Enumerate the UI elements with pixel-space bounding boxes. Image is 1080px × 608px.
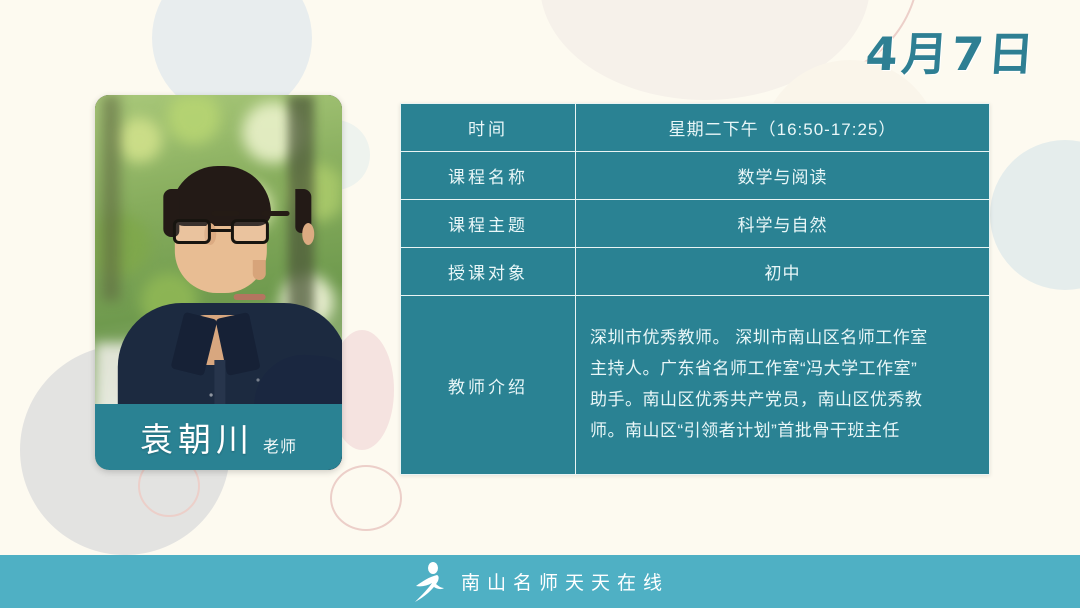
row-value-course-topic: 科学与自然 bbox=[576, 200, 990, 248]
table-row: 时间 星期二下午（16:50-17:25） bbox=[401, 104, 990, 152]
course-info-table: 时间 星期二下午（16:50-17:25） 课程名称 数学与阅读 课程主题 科学… bbox=[400, 103, 990, 475]
bio-line: 深圳市优秀教师。 深圳市南山区名师工作室 bbox=[590, 323, 973, 354]
row-value-course-name: 数学与阅读 bbox=[576, 152, 990, 200]
table-row: 课程主题 科学与自然 bbox=[401, 200, 990, 248]
table-row-bio: 教师介绍 深圳市优秀教师。 深圳市南山区名师工作室 主持人。广东省名师工作室“冯… bbox=[401, 296, 990, 475]
row-value-teacher-bio: 深圳市优秀教师。 深圳市南山区名师工作室 主持人。广东省名师工作室“冯大学工作室… bbox=[576, 296, 990, 475]
bio-line: 助手。南山区优秀共产党员，南山区优秀教 bbox=[590, 385, 973, 416]
decorative-circle-pale-top bbox=[540, 0, 870, 100]
row-label-course-topic: 课程主题 bbox=[401, 200, 576, 248]
teacher-name-banner: 袁朝川 老师 bbox=[95, 404, 342, 470]
teacher-photo-card: 袁朝川 老师 bbox=[95, 95, 342, 470]
row-value-audience: 初中 bbox=[576, 248, 990, 296]
running-figure-icon bbox=[411, 562, 445, 602]
row-label-time: 时间 bbox=[401, 104, 576, 152]
date-heading: 4月7日 bbox=[864, 18, 1041, 84]
decorative-circle-pink-ring-bottom bbox=[330, 465, 402, 531]
table-row: 课程名称 数学与阅读 bbox=[401, 152, 990, 200]
bio-line: 主持人。广东省名师工作室“冯大学工作室” bbox=[590, 354, 973, 385]
row-value-time: 星期二下午（16:50-17:25） bbox=[576, 104, 990, 152]
teacher-name: 袁朝川 bbox=[140, 413, 254, 461]
footer-bar: 南山名师天天在线 bbox=[0, 555, 1080, 608]
row-label-audience: 授课对象 bbox=[401, 248, 576, 296]
bio-line: 师。南山区“引领者计划”首批骨干班主任 bbox=[590, 416, 973, 447]
row-label-course-name: 课程名称 bbox=[401, 152, 576, 200]
footer-text: 南山名师天天在线 bbox=[461, 568, 669, 595]
decorative-circle-pale-right bbox=[990, 140, 1080, 290]
table-row: 授课对象 初中 bbox=[401, 248, 990, 296]
row-label-teacher-bio: 教师介绍 bbox=[401, 296, 576, 475]
teacher-role-label: 老师 bbox=[263, 433, 297, 457]
